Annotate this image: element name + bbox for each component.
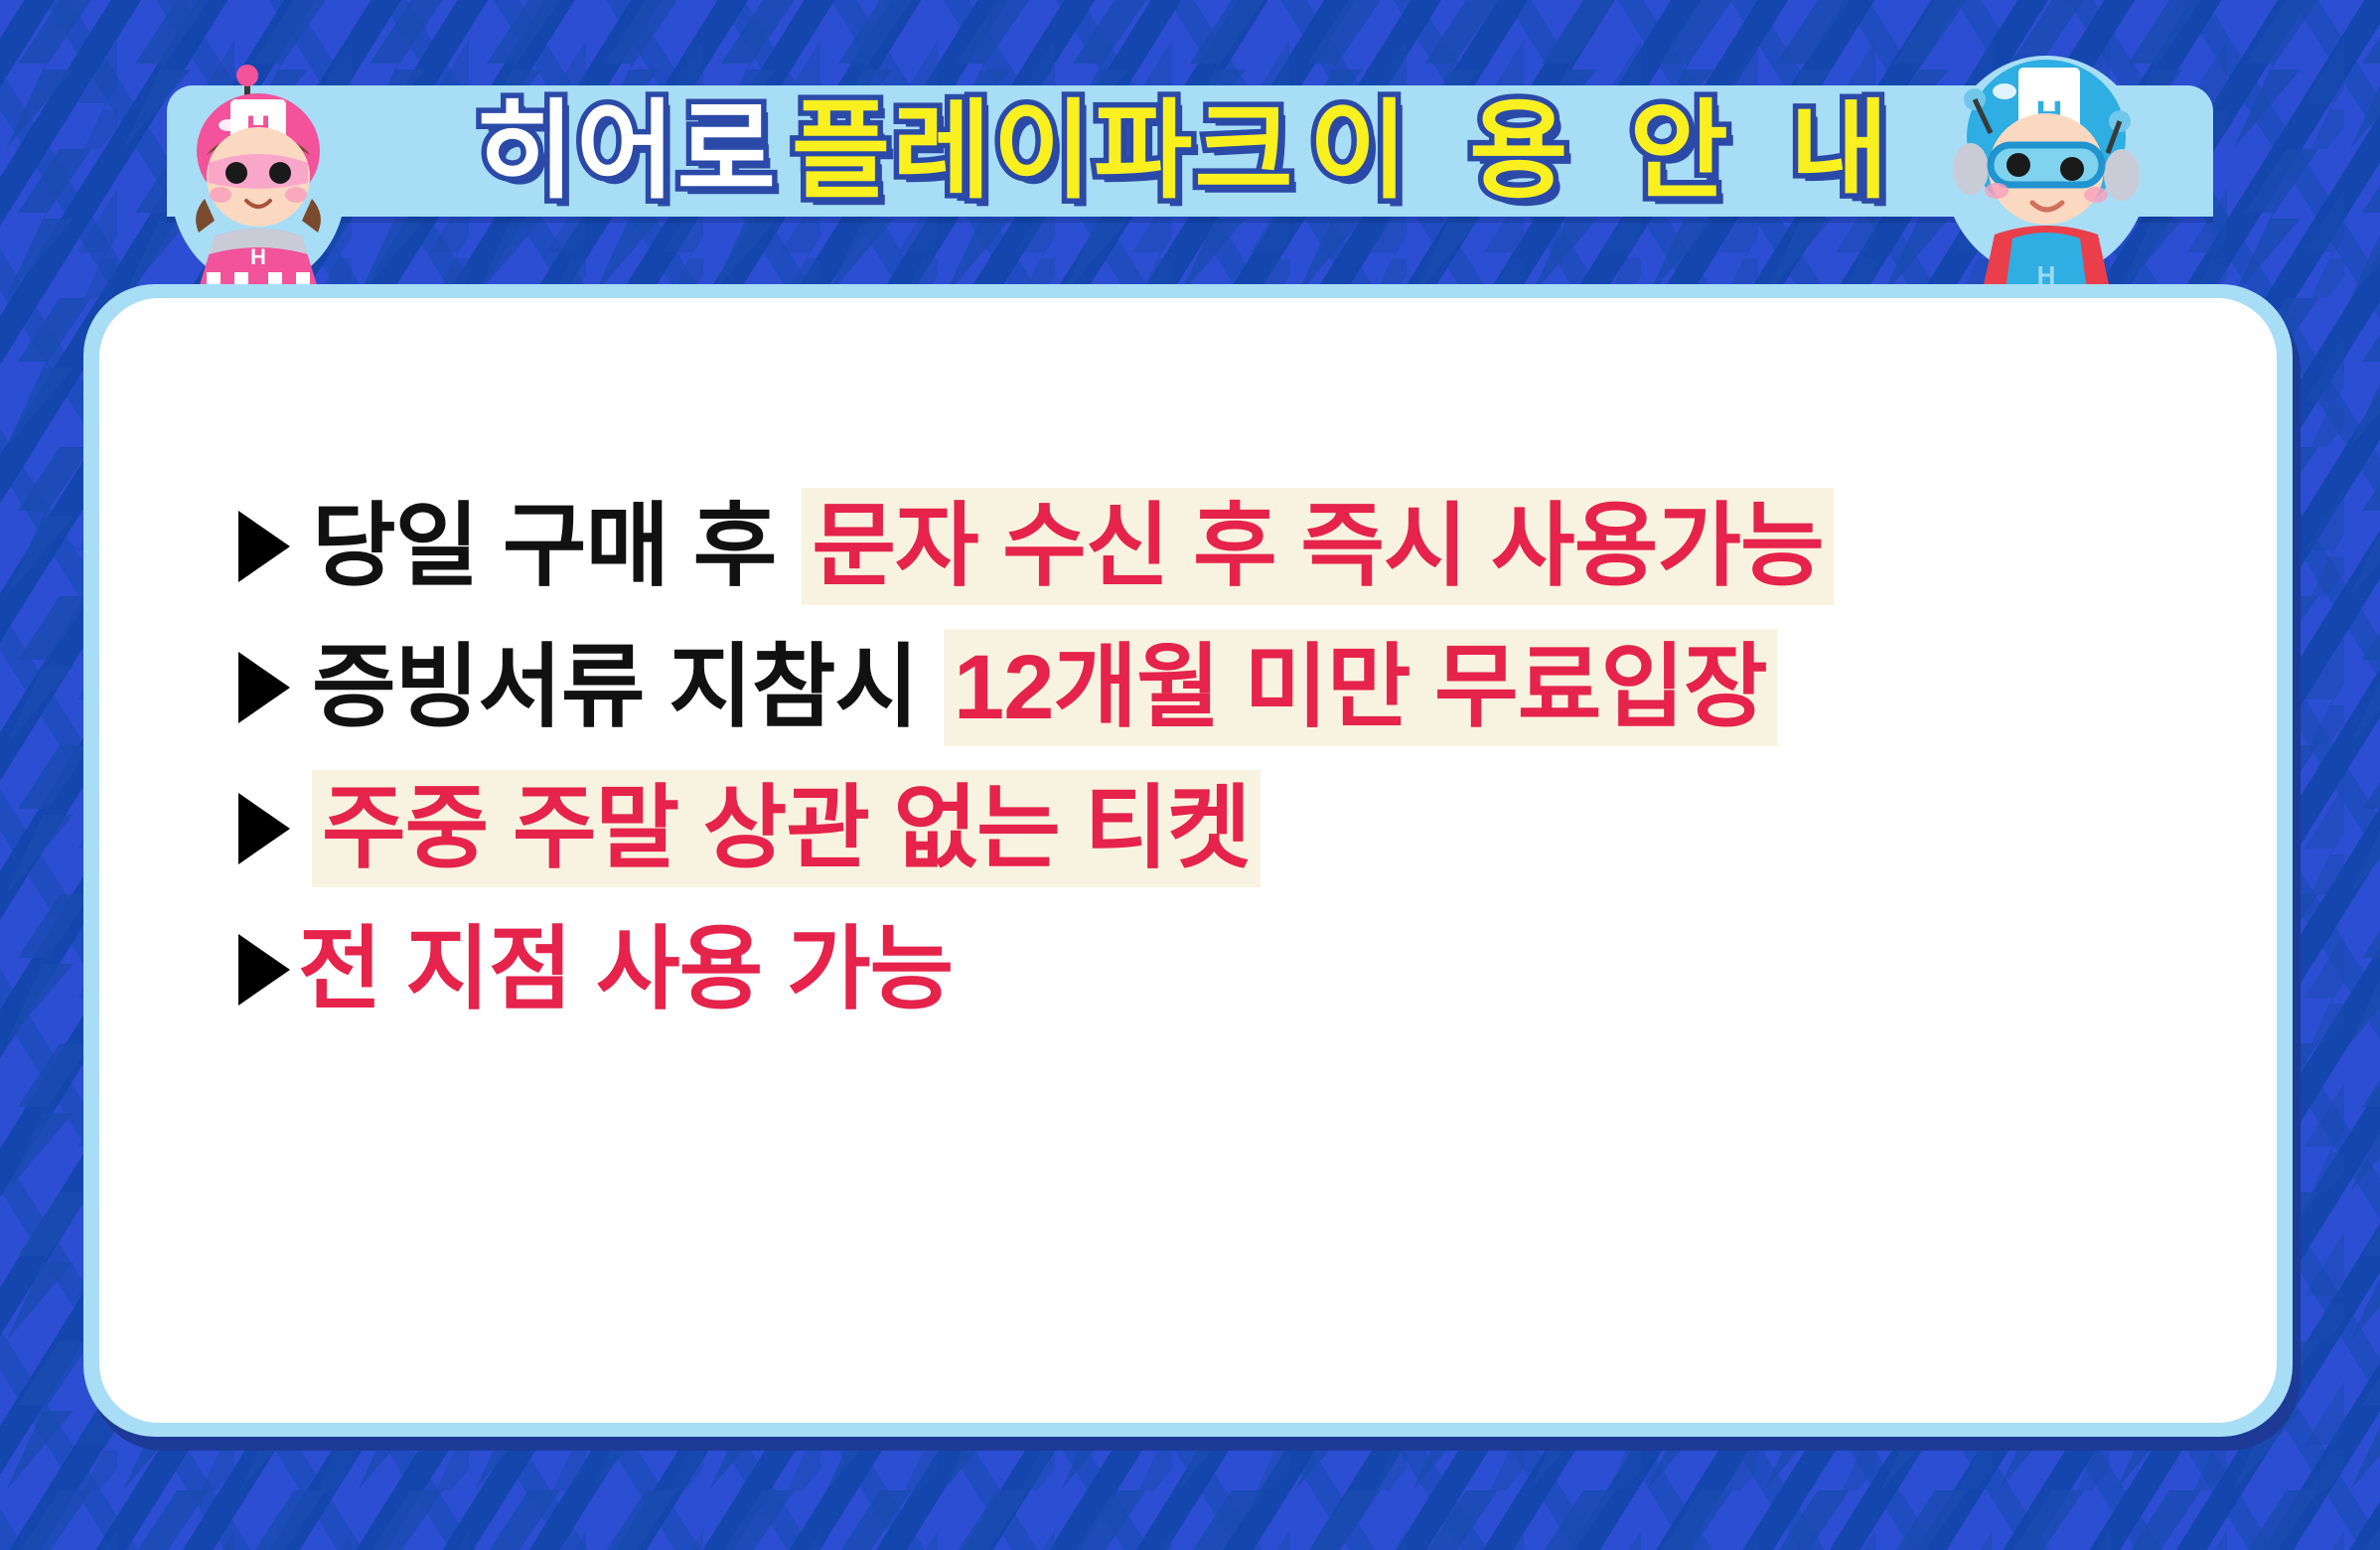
triangle-bullet-icon <box>238 934 290 1006</box>
title-word-guide: 이 용 안 내 <box>1309 97 1904 205</box>
bullet-1-text-highlight: 문자 수신 후 즉시 사용가능 <box>802 488 1833 605</box>
bullet-row-2: 증빙서류 지참시 12개월 미만 무료입장 <box>238 628 2237 747</box>
content-card: 당일 구매 후 문자 수신 후 즉시 사용가능 증빙서류 지참시 12개월 미만… <box>99 298 2277 1423</box>
bullet-4-text-plain: 전 지점 사용 가능 <box>298 911 953 1028</box>
bullet-2-text-plain: 증빙서류 지참시 <box>312 629 918 746</box>
triangle-bullet-icon <box>238 511 290 582</box>
title-banner: 히어로 플레이파크 이 용 안 내 <box>167 85 2213 217</box>
bullet-row-4: 전 지점 사용 가능 <box>238 910 2237 1029</box>
title-text-group: 히어로 플레이파크 이 용 안 내 <box>167 85 2213 217</box>
title-word-playpark: 플레이파크 <box>792 97 1295 205</box>
bullet-list: 당일 구매 후 문자 수신 후 즉시 사용가능 증빙서류 지참시 12개월 미만… <box>238 487 2237 1051</box>
bullet-2-text-highlight: 12개월 미만 무료입장 <box>944 629 1777 746</box>
bullet-3-text-highlight: 주중 주말 상관 없는 티켓 <box>312 770 1261 887</box>
triangle-bullet-icon <box>238 793 290 864</box>
poster-canvas: 히어로 플레이파크 이 용 안 내 H H <box>0 0 2380 1550</box>
bullet-1-text-plain: 당일 구매 후 <box>312 488 776 605</box>
triangle-bullet-icon <box>238 652 290 723</box>
bullet-row-3: 주중 주말 상관 없는 티켓 <box>238 769 2237 888</box>
title-word-hero: 히어로 <box>476 97 778 205</box>
bullet-row-1: 당일 구매 후 문자 수신 후 즉시 사용가능 <box>238 487 2237 606</box>
